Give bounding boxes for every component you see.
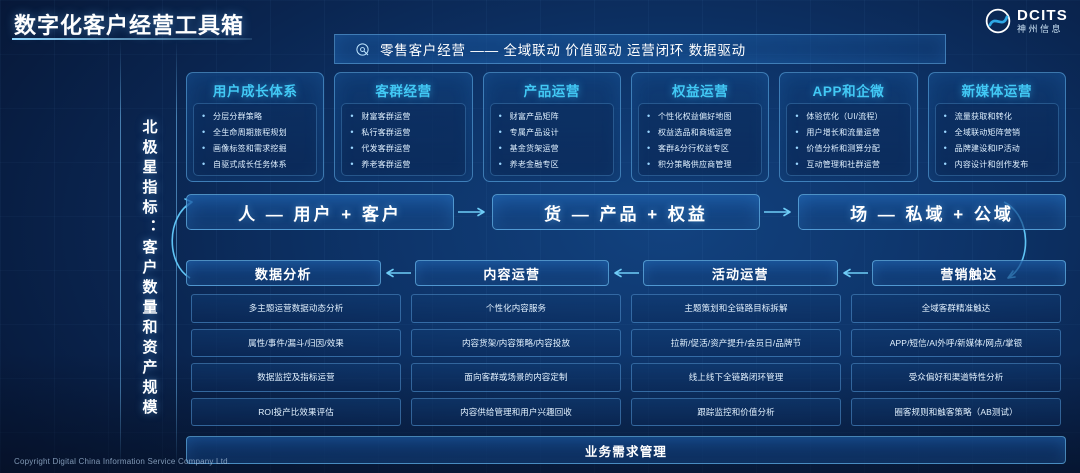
card-item: 客群&分行权益专区 [644,141,758,157]
capability-card[interactable]: 产品运营 财富产品矩阵 专属产品设计 基金货架运营 养老金融专区 [483,72,621,182]
grid-cell[interactable]: 主题策划和全链路目标拆解 [631,294,841,323]
arrow-right-icon [760,206,798,218]
card-item: 品牌建设和IP活动 [941,141,1055,157]
card-title: 客群经营 [341,78,465,103]
flow-box-goods[interactable]: 货 — 产品 + 权益 [492,194,760,230]
logo-wordmark: DCITS [1017,8,1068,23]
grid-cell[interactable]: 面向客群或场景的内容定制 [411,363,621,392]
flow-box-place[interactable]: 场 — 私域 + 公域 [798,194,1066,230]
grid-cell[interactable]: 内容供给管理和用户兴趣回收 [411,398,621,427]
grid-cell[interactable]: APP/短信/AI外呼/新媒体/网点/掌银 [851,329,1061,358]
column-header-data-analysis[interactable]: 数据分析 [186,260,381,286]
brand-logo: DCITS 神州信息 [985,8,1068,34]
title-underline [12,38,252,40]
grid-cell[interactable]: 内容货架/内容策略/内容投放 [411,329,621,358]
card-item: 积分策略供应商管理 [644,157,758,173]
card-item: 全生命周期旅程规划 [199,125,313,141]
dcits-swirl-icon [985,8,1011,34]
grid-column-content-ops: 个性化内容服务 内容货架/内容策略/内容投放 面向客群或场景的内容定制 内容供给… [406,294,626,426]
capability-card[interactable]: 客群经营 财富客群运营 私行客群运营 代发客群运营 养老客群运营 [334,72,472,182]
grid-cell[interactable]: 拉新/促活/资产提升/会员日/品牌节 [631,329,841,358]
grid-cell[interactable]: 属性/事件/漏斗/归因/效果 [191,329,401,358]
card-item: 互动管理和社群运营 [792,157,906,173]
target-circle-icon [355,42,370,57]
card-item: 分层分群策略 [199,109,313,125]
grid-column-data-analysis: 多主题运营数据动态分析 属性/事件/漏斗/归因/效果 数据监控及指标运营 ROI… [186,294,406,426]
arrow-left-icon [838,267,872,279]
grid-cell[interactable]: 个性化内容服务 [411,294,621,323]
capability-card[interactable]: 用户成长体系 分层分群策略 全生命周期旅程规划 画像标签和需求挖掘 自驱式成长任… [186,72,324,182]
card-item: 用户增长和流量运营 [792,125,906,141]
grid-cell[interactable]: 圈客规则和触客策略（AB测试） [851,398,1061,427]
arrow-left-icon [609,267,643,279]
left-divider-outer [120,40,121,469]
card-item: 养老金融专区 [496,157,610,173]
slide-canvas: 数字化客户经营工具箱 DCITS 神州信息 北极星指标：客户数量和资产规模 零售… [0,0,1080,473]
capability-card[interactable]: 权益运营 个性化权益偏好地图 权益选品和商城运营 客群&分行权益专区 积分策略供… [631,72,769,182]
card-title: 权益运营 [638,78,762,103]
card-item: 专属产品设计 [496,125,610,141]
arrow-right-icon [454,206,492,218]
card-item: 基金货架运营 [496,141,610,157]
card-item: 养老客群运营 [347,157,461,173]
grid-cell[interactable]: 受众偏好和渠道特性分析 [851,363,1061,392]
card-title: APP和企微 [786,78,910,103]
arrow-left-icon [381,267,415,279]
card-item: 自驱式成长任务体系 [199,157,313,173]
copyright-text: Copyright Digital China Information Serv… [14,457,230,466]
card-body: 个性化权益偏好地图 权益选品和商城运营 客群&分行权益专区 积分策略供应商管理 [638,103,762,176]
card-title: 产品运营 [490,78,614,103]
north-star-metric-text: 北极星指标：客户数量和资产规模 [139,119,160,419]
card-body: 分层分群策略 全生命周期旅程规划 画像标签和需求挖掘 自驱式成长任务体系 [193,103,317,176]
grid-cell[interactable]: 跟踪监控和价值分析 [631,398,841,427]
grid-cell[interactable]: 线上线下全链路闭环管理 [631,363,841,392]
grid-cell[interactable]: 全域客群精准触达 [851,294,1061,323]
card-item: 体验优化（UI/流程） [792,109,906,125]
card-body: 流量获取和转化 全域联动矩阵营销 品牌建设和IP活动 内容设计和创作发布 [935,103,1059,176]
card-body: 财富产品矩阵 专属产品设计 基金货架运营 养老金融专区 [490,103,614,176]
flow-row-people-goods-place: 人 — 用户 + 客户 货 — 产品 + 权益 场 — 私域 + 公域 [186,194,1066,230]
card-item: 画像标签和需求挖掘 [199,141,313,157]
card-title: 用户成长体系 [193,78,317,103]
card-item: 财富产品矩阵 [496,109,610,125]
card-item: 个性化权益偏好地图 [644,109,758,125]
banner-text: 零售客户经营 —— 全域联动 价值驱动 运营闭环 数据驱动 [380,39,746,59]
page-title: 数字化客户经营工具箱 [14,8,244,40]
north-star-metric-label: 北极星指标：客户数量和资产规模 [127,86,171,451]
card-item: 代发客群运营 [347,141,461,157]
grid-column-campaign-ops: 主题策划和全链路目标拆解 拉新/促活/资产提升/会员日/品牌节 线上线下全链路闭… [626,294,846,426]
card-body: 体验优化（UI/流程） 用户增长和流量运营 价值分析和测算分配 互动管理和社群运… [786,103,910,176]
banner-strip: 零售客户经营 —— 全域联动 价值驱动 运营闭环 数据驱动 [334,34,946,64]
capability-card-row: 用户成长体系 分层分群策略 全生命周期旅程规划 画像标签和需求挖掘 自驱式成长任… [186,72,1066,182]
card-item: 私行客群运营 [347,125,461,141]
card-item: 全域联动矩阵营销 [941,125,1055,141]
grid-cell[interactable]: 多主题运营数据动态分析 [191,294,401,323]
logo-subtext: 神州信息 [1017,25,1068,34]
card-item: 价值分析和测算分配 [792,141,906,157]
grid-cell[interactable]: 数据监控及指标运营 [191,363,401,392]
grid-column-marketing-reach: 全域客群精准触达 APP/短信/AI外呼/新媒体/网点/掌银 受众偏好和渠道特性… [846,294,1066,426]
capability-card[interactable]: APP和企微 体验优化（UI/流程） 用户增长和流量运营 价值分析和测算分配 互… [779,72,917,182]
column-header-marketing-reach[interactable]: 营销触达 [872,260,1067,286]
card-title: 新媒体运营 [935,78,1059,103]
card-item: 内容设计和创作发布 [941,157,1055,173]
flow-row-operations: 数据分析 内容运营 活动运营 营销触达 [186,260,1066,286]
card-item: 流量获取和转化 [941,109,1055,125]
card-item: 权益选品和商城运营 [644,125,758,141]
flow-box-people[interactable]: 人 — 用户 + 客户 [186,194,454,230]
column-header-campaign-ops[interactable]: 活动运营 [643,260,838,286]
grid-cell[interactable]: ROI投产比效果评估 [191,398,401,427]
column-header-content-ops[interactable]: 内容运营 [415,260,610,286]
card-body: 财富客群运营 私行客群运营 代发客群运营 养老客群运营 [341,103,465,176]
bottom-bar-business-requirements[interactable]: 业务需求管理 [186,436,1066,464]
card-item: 财富客群运营 [347,109,461,125]
detail-grid: 多主题运营数据动态分析 属性/事件/漏斗/归因/效果 数据监控及指标运营 ROI… [186,294,1066,426]
capability-card[interactable]: 新媒体运营 流量获取和转化 全域联动矩阵营销 品牌建设和IP活动 内容设计和创作… [928,72,1066,182]
